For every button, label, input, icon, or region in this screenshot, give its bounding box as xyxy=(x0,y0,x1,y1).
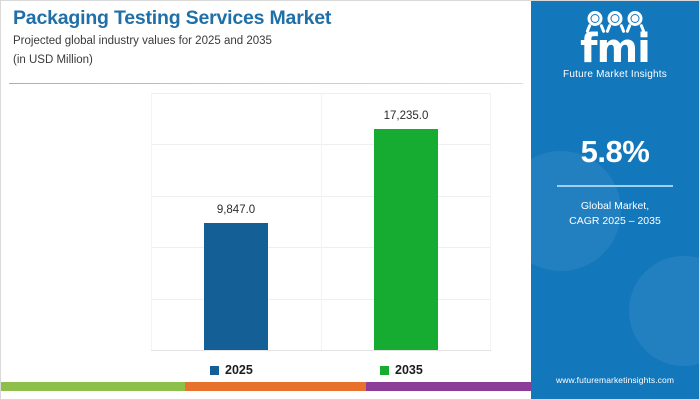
chart-header: Packaging Testing Services Market Projec… xyxy=(13,7,518,69)
chart-bar-value-label: 17,235.0 xyxy=(351,110,461,122)
chart-units-label: (in USD Million) xyxy=(13,52,518,69)
cagr-caption-line-1: Global Market, xyxy=(531,199,699,215)
chart-pane: Packaging Testing Services Market Projec… xyxy=(1,1,533,391)
stripe-segment-green xyxy=(1,382,185,391)
chart-bar[interactable] xyxy=(374,129,438,350)
legend-label: 2025 xyxy=(225,363,253,377)
chart-gridline xyxy=(151,350,491,351)
chart-bar[interactable] xyxy=(204,223,268,350)
chart-vertical-gridline xyxy=(321,93,322,350)
person-globe-icon xyxy=(607,11,624,33)
watermark-circle xyxy=(629,256,699,366)
chart-plot-area: 9,847.017,235.0 xyxy=(151,93,491,350)
legend-item-2035[interactable]: 2035 xyxy=(380,363,423,377)
cagr-block: 5.8% Global Market, CAGR 2025 – 2035 xyxy=(531,136,699,230)
chart-bar-value-label: 9,847.0 xyxy=(181,204,291,216)
logo-wordmark: fmi xyxy=(531,30,699,68)
page-title: Packaging Testing Services Market xyxy=(13,7,518,29)
header-divider xyxy=(9,83,523,84)
website-url[interactable]: www.futuremarketinsights.com xyxy=(531,375,699,385)
person-globe-icon xyxy=(587,11,604,33)
stripe-segment-orange xyxy=(185,382,367,391)
cagr-value: 5.8% xyxy=(531,136,699,167)
legend-label: 2035 xyxy=(395,363,423,377)
cagr-divider xyxy=(557,185,673,187)
legend-swatch-icon xyxy=(210,366,219,375)
legend-swatch-icon xyxy=(380,366,389,375)
brand-panel: fmi Future Market Insights 5.8% Global M… xyxy=(531,1,699,400)
stripe-segment-purple xyxy=(366,382,533,391)
logo-tagline: Future Market Insights xyxy=(531,69,699,80)
legend-item-2025[interactable]: 2025 xyxy=(210,363,253,377)
footer-color-stripe xyxy=(1,382,533,391)
infographic-root: Packaging Testing Services Market Projec… xyxy=(0,0,700,400)
chart-vertical-gridline xyxy=(151,93,152,350)
chart-subtitle: Projected global industry values for 202… xyxy=(13,33,518,50)
chart-vertical-gridline xyxy=(490,93,491,350)
person-globe-icon xyxy=(627,11,644,33)
cagr-caption-line-2: CAGR 2025 – 2035 xyxy=(531,214,699,230)
chart-legend: 20252035 xyxy=(151,363,491,383)
fmi-logo: fmi Future Market Insights xyxy=(531,9,699,80)
